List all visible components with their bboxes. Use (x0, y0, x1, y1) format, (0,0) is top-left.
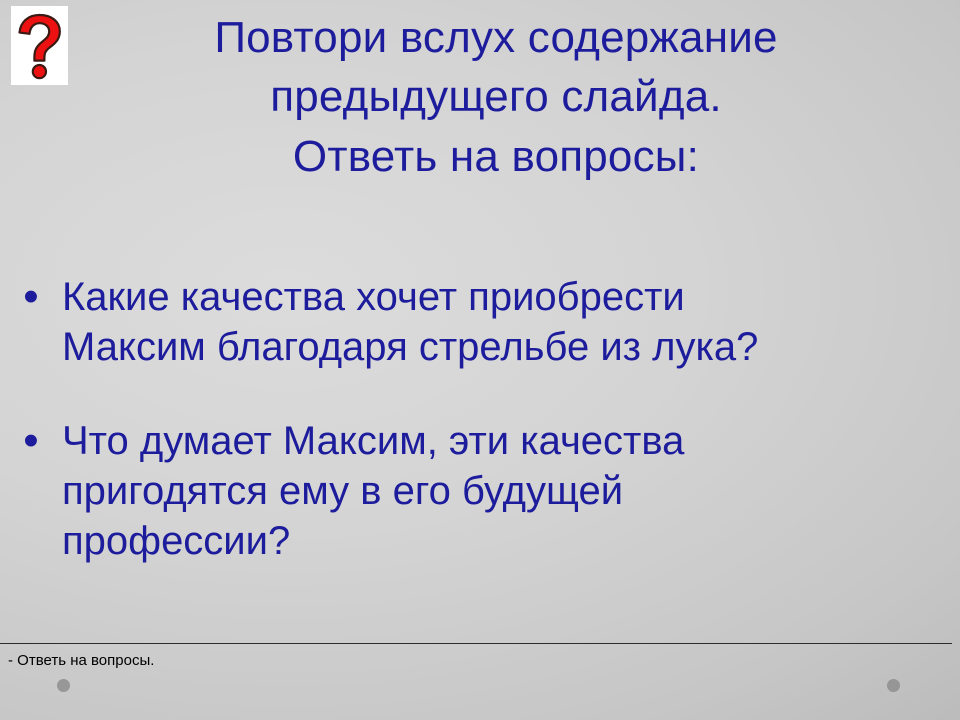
bullet-1-line-1: Какие качества хочет приобрести (62, 272, 944, 322)
bullet-2-line-3: профессии? (62, 516, 944, 566)
list-item: • Что думает Максим, эти качества пригод… (0, 416, 960, 566)
bullet-text-2: Что думает Максим, эти качества пригодят… (62, 416, 960, 566)
footer-dot-left-icon (57, 679, 70, 692)
slide-canvas: Повтори вслух содержание предыдущего сла… (0, 0, 960, 720)
footer-note: - Ответь на вопросы. (8, 651, 154, 671)
footer-dot-right-icon (887, 679, 900, 692)
title-line-3: Ответь на вопросы: (86, 127, 906, 186)
title-line-1: Повтори вслух содержание (86, 8, 906, 67)
list-item: • Какие качества хочет приобрести Максим… (0, 272, 960, 372)
bullet-icon: • (0, 272, 62, 322)
bullet-icon: • (0, 416, 62, 466)
bullet-2-line-1: Что думает Максим, эти качества (62, 416, 944, 466)
title-line-2: предыдущего слайда. (86, 67, 906, 126)
slide-title: Повтори вслух содержание предыдущего сла… (86, 8, 906, 186)
footer-divider (0, 643, 952, 644)
bullet-1-line-2: Максим благодаря стрельбе из лука? (62, 322, 944, 372)
question-mark-icon (11, 6, 68, 85)
slide-body: • Какие качества хочет приобрести Максим… (0, 272, 960, 610)
bullet-2-line-2: пригодятся ему в его будущей (62, 466, 944, 516)
bullet-text-1: Какие качества хочет приобрести Максим б… (62, 272, 960, 372)
